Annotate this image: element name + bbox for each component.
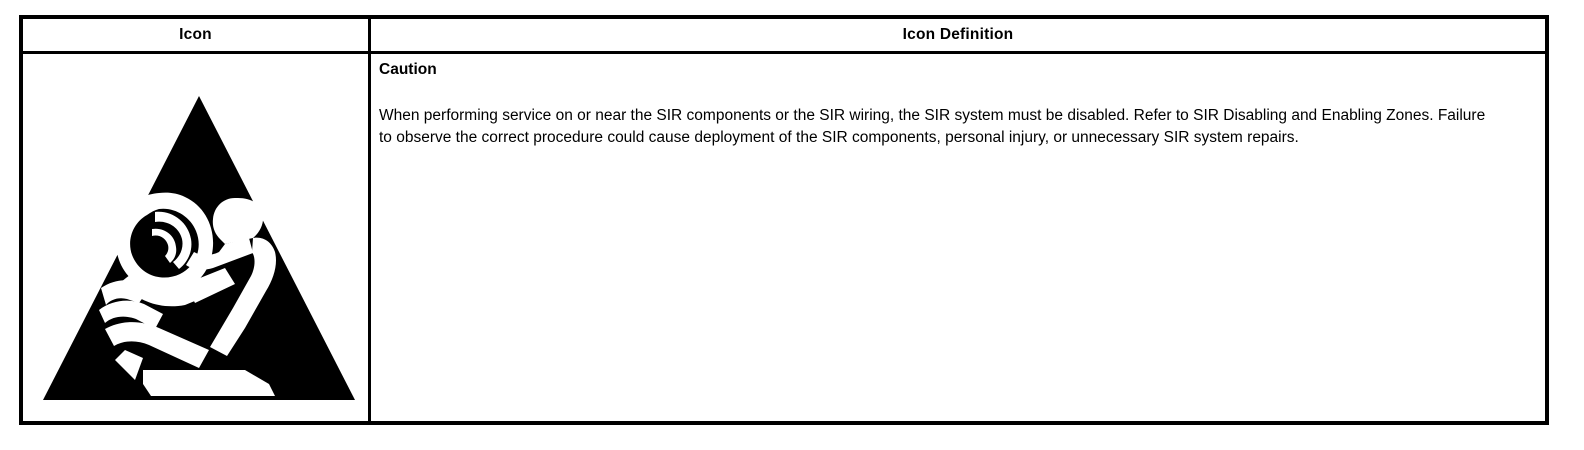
table-row: Caution When performing service on or ne…	[23, 54, 1545, 422]
table-cell-icon-definition: Caution When performing service on or ne…	[371, 54, 1545, 422]
caution-heading: Caution	[379, 60, 1531, 79]
caution-body-text: When performing service on or near the S…	[379, 105, 1489, 150]
table-cell-icon	[23, 54, 371, 422]
heading-body-spacer	[379, 79, 1531, 105]
icon-definition-table: Icon Icon Definition	[19, 15, 1549, 425]
column-header-icon-definition: Icon Definition	[371, 19, 1545, 51]
column-header-icon: Icon	[23, 19, 371, 51]
sir-airbag-caution-triangle-icon	[39, 88, 359, 408]
document-page: Icon Icon Definition	[0, 0, 1584, 450]
table-header-row: Icon Icon Definition	[23, 19, 1545, 54]
